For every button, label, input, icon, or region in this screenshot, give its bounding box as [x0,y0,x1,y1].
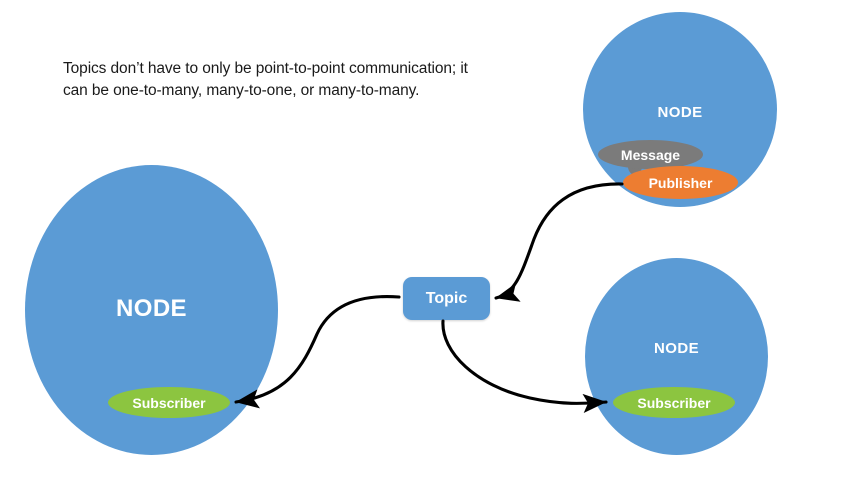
caption-text: Topics don’t have to only be point-to-po… [63,58,483,103]
publisher-pill[interactable]: Publisher [623,166,738,199]
arrow-publisher-to-topic [496,184,622,298]
topic-box[interactable]: Topic [403,277,490,320]
subscriber-pill-left[interactable]: Subscriber [108,387,230,418]
message-pill[interactable]: Message [598,140,703,169]
subscriber-pill-bottom-right[interactable]: Subscriber [613,387,735,418]
node-bottom-right-label: NODE [585,340,768,357]
arrow-topic-to-bottom-right-subscriber [443,321,606,403]
diagram-canvas: Topics don’t have to only be point-to-po… [0,0,854,480]
node-top-right-label: NODE [583,104,777,121]
node-left-label: NODE [25,295,278,323]
